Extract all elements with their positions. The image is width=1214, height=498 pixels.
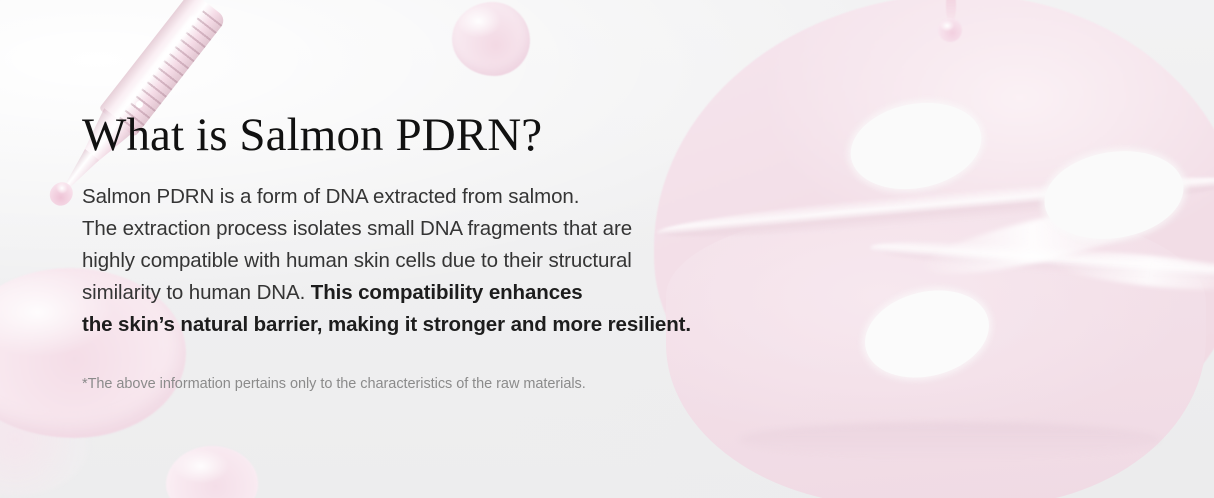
sheet-mask-bottom-shadow (740, 422, 1160, 458)
sheet-mask-eye-opening-right (1038, 142, 1190, 249)
sheet-mask-highlight-secondary (1049, 246, 1214, 297)
body-line-4-emphasis: This compatibility enhances (311, 281, 583, 304)
body-line-1: Salmon PDRN is a form of DNA extracted f… (82, 185, 579, 208)
sheet-mask-mouth-opening (856, 278, 999, 390)
sheet-mask-fold-seam-secondary (870, 234, 1214, 287)
salmon-pdrn-info-banner: What is Salmon PDRN? Salmon PDRN is a fo… (0, 0, 1214, 498)
page-title: What is Salmon PDRN? (82, 108, 542, 162)
disclaimer-footnote: *The above information pertains only to … (82, 374, 586, 394)
serum-drip-bead-icon (938, 18, 962, 42)
serum-drip-icon (946, 0, 956, 22)
body-paragraph: Salmon PDRN is a form of DNA extracted f… (82, 181, 782, 341)
serum-droplet-far-left-glow (0, 392, 90, 496)
body-line-4-regular: similarity to human DNA. (82, 281, 311, 304)
banner-text-content: What is Salmon PDRN? Salmon PDRN is a fo… (80, 0, 780, 498)
body-line-3: highly compatible with human skin cells … (82, 249, 632, 272)
body-line-2: The extraction process isolates small DN… (82, 217, 632, 240)
sheet-mask-eye-opening-left (843, 92, 989, 200)
dropper-droplet-bead-icon (45, 178, 77, 210)
sheet-mask-highlight (918, 190, 1171, 287)
body-line-5-emphasis: the skin’s natural barrier, making it st… (82, 313, 691, 336)
